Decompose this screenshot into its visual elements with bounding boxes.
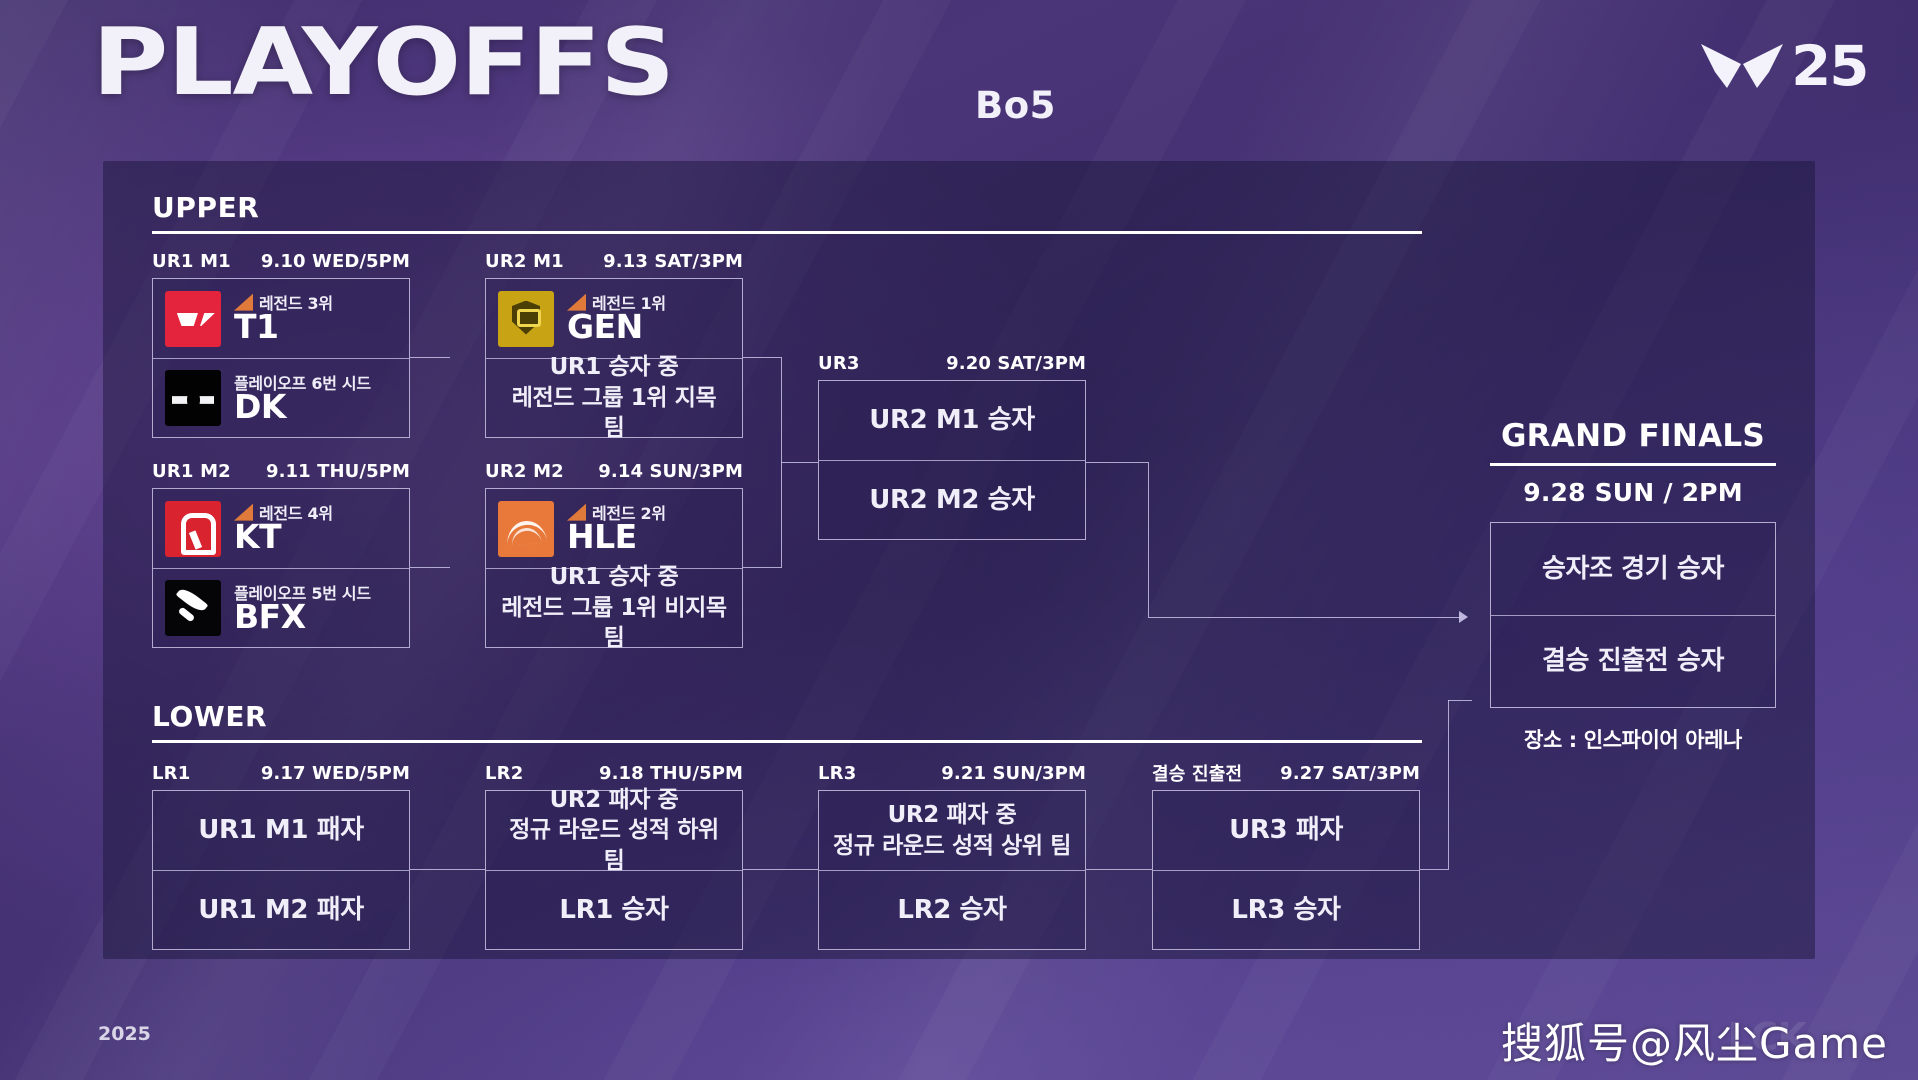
dk-logo-icon (165, 370, 221, 426)
team-info: 플레이오프 6번 시드 DK (234, 372, 371, 425)
placeholder-text: UR2 M2 승자 (831, 483, 1073, 517)
placeholder-slot[interactable]: LR2 승자 (819, 870, 1085, 949)
match-box: 레전드 3위 T1 플레이오프 6번 시드 DK (152, 278, 410, 438)
match-code: UR1 M1 (152, 251, 231, 272)
placeholder-text: UR2 패자 중정규 라운드 성적 상위 팀 (831, 800, 1073, 861)
match-code: UR2 M2 (485, 461, 564, 482)
placeholder-text: UR1 M2 패자 (165, 893, 397, 927)
section-title-upper: UPPER (152, 191, 259, 224)
team-slot[interactable]: 플레이오프 6번 시드 DK (153, 358, 409, 437)
placeholder-slot[interactable]: UR2 패자 중정규 라운드 성적 상위 팀 (819, 791, 1085, 870)
placeholder-slot[interactable]: UR2 M2 승자 (819, 460, 1085, 539)
match-code: UR1 M2 (152, 461, 231, 482)
connector-line (743, 357, 781, 358)
placeholder-text: UR2 패자 중정규 라운드 성적 하위 팀 (498, 785, 730, 876)
team-slot[interactable]: 레전드 2위 HLE (486, 489, 742, 568)
team-slot[interactable]: 레전드 3위 T1 (153, 279, 409, 358)
placeholder-text: UR1 승자 중레전드 그룹 1위 비지목 팀 (498, 562, 730, 653)
connector-line (743, 869, 818, 870)
connector-line (1086, 869, 1152, 870)
match-datetime: 9.18 THU/5PM (599, 763, 743, 784)
seed-flag-icon (567, 504, 586, 521)
team-info: 레전드 4위 KT (234, 502, 333, 555)
match-box: 레전드 1위 GEN UR1 승자 중레전드 그룹 1위 지목 팀 (485, 278, 743, 438)
match-header: UR2 M1 9.13 SAT/3PM (485, 248, 743, 274)
venue-label: 장소 : 인스파이어 아레나 (1490, 724, 1776, 754)
team-name: T1 (234, 310, 333, 345)
grand-finals-datetime: 9.28 SUN / 2PM (1490, 478, 1776, 507)
placeholder-slot[interactable]: 결승 진출전 승자 (1491, 615, 1775, 707)
team-name: KT (234, 520, 333, 555)
match-datetime: 9.21 SUN/3PM (941, 763, 1086, 784)
match-datetime: 9.10 WED/5PM (261, 251, 410, 272)
seed-row: 레전드 4위 (234, 502, 333, 522)
match-box: UR2 패자 중정규 라운드 성적 하위 팀 LR1 승자 (485, 790, 743, 950)
match-datetime: 9.27 SAT/3PM (1280, 763, 1420, 784)
lck-logo: 25 (1697, 34, 1866, 98)
match-box: UR2 패자 중정규 라운드 성적 상위 팀 LR2 승자 (818, 790, 1086, 950)
match-datetime: 9.13 SAT/3PM (603, 251, 743, 272)
connector-line (1148, 617, 1461, 618)
match-code: 결승 진출전 (1152, 760, 1242, 786)
placeholder-slot[interactable]: UR2 패자 중정규 라운드 성적 하위 팀 (486, 791, 742, 870)
placeholder-text: 결승 진출전 승자 (1503, 644, 1763, 678)
connector-line (1086, 462, 1148, 463)
match-datetime: 9.17 WED/5PM (261, 763, 410, 784)
match-header: 결승 진출전 9.27 SAT/3PM (1152, 760, 1420, 786)
placeholder-text: LR3 승자 (1165, 893, 1407, 927)
connector-line (1448, 700, 1472, 701)
match-header: LR1 9.17 WED/5PM (152, 760, 410, 786)
team-name: DK (234, 390, 371, 425)
bfx-logo-icon (165, 580, 221, 636)
placeholder-text: 승자조 경기 승자 (1503, 552, 1763, 586)
match-header: LR2 9.18 THU/5PM (485, 760, 743, 786)
footer-year: 2025 (98, 1023, 151, 1045)
connector-line (1148, 462, 1149, 617)
placeholder-slot[interactable]: UR1 승자 중레전드 그룹 1위 지목 팀 (486, 358, 742, 437)
placeholder-slot[interactable]: LR3 승자 (1153, 870, 1419, 949)
connector-line (410, 567, 450, 568)
placeholder-slot[interactable]: UR1 M2 패자 (153, 870, 409, 949)
seed-flag-icon (567, 294, 586, 311)
connector-arrow-icon (1459, 611, 1468, 623)
connector-line (1448, 700, 1449, 870)
team-info: 레전드 3위 T1 (234, 292, 333, 345)
logo-year: 25 (1792, 34, 1868, 98)
format-label: Bo5 (975, 84, 1056, 127)
connector-line (781, 462, 818, 463)
placeholder-slot[interactable]: UR3 패자 (1153, 791, 1419, 870)
match-datetime: 9.14 SUN/3PM (598, 461, 743, 482)
placeholder-slot[interactable]: 승자조 경기 승자 (1491, 523, 1775, 615)
seed-flag-icon (234, 294, 253, 311)
grand-finals: GRAND FINALS 9.28 SUN / 2PM 승자조 경기 승자 결승… (1490, 418, 1776, 754)
team-slot[interactable]: 레전드 1위 GEN (486, 279, 742, 358)
match-box: UR1 M1 패자 UR1 M2 패자 (152, 790, 410, 950)
match-box: UR2 M1 승자 UR2 M2 승자 (818, 380, 1086, 540)
section-title-lower: LOWER (152, 700, 267, 733)
grand-finals-title: GRAND FINALS (1490, 418, 1776, 454)
match-header: UR1 M1 9.10 WED/5PM (152, 248, 410, 274)
team-name: HLE (567, 520, 666, 555)
placeholder-slot[interactable]: LR1 승자 (486, 870, 742, 949)
team-name: BFX (234, 600, 371, 635)
placeholder-text: UR2 M1 승자 (831, 403, 1073, 437)
team-slot[interactable]: 플레이오프 5번 시드 BFX (153, 568, 409, 647)
t1-logo-icon (165, 291, 221, 347)
placeholder-slot[interactable]: UR1 M1 패자 (153, 791, 409, 870)
match-box: 레전드 4위 KT 플레이오프 5번 시드 BFX (152, 488, 410, 648)
placeholder-text: LR2 승자 (831, 893, 1073, 927)
team-name: GEN (567, 310, 666, 345)
grand-finals-box: 승자조 경기 승자 결승 진출전 승자 (1490, 522, 1776, 708)
connector-line (743, 567, 781, 568)
team-slot[interactable]: 레전드 4위 KT (153, 489, 409, 568)
placeholder-text: UR1 M1 패자 (165, 813, 397, 847)
seed-flag-icon (234, 504, 253, 521)
match-code: UR3 (818, 353, 860, 374)
match-header: LR3 9.21 SUN/3PM (818, 760, 1086, 786)
placeholder-text: UR3 패자 (1165, 813, 1407, 847)
section-rule-upper (152, 231, 1422, 234)
connector-line (410, 357, 450, 358)
match-code: LR3 (818, 763, 856, 784)
section-rule-lower (152, 740, 1422, 743)
gen-logo-icon (498, 291, 554, 347)
connector-line (1420, 869, 1448, 870)
match-header: UR3 9.20 SAT/3PM (818, 350, 1086, 376)
match-box: UR3 패자 LR3 승자 (1152, 790, 1420, 950)
seed-row: 레전드 3위 (234, 292, 333, 312)
connector-line (410, 869, 485, 870)
placeholder-text: UR1 승자 중레전드 그룹 1위 지목 팀 (498, 352, 730, 443)
placeholder-slot[interactable]: UR2 M1 승자 (819, 381, 1085, 460)
match-header: UR2 M2 9.14 SUN/3PM (485, 458, 743, 484)
placeholder-text: LR1 승자 (498, 893, 730, 927)
match-code: LR1 (152, 763, 190, 784)
match-header: UR1 M2 9.11 THU/5PM (152, 458, 410, 484)
team-info: 플레이오프 5번 시드 BFX (234, 582, 371, 635)
match-code: UR2 M1 (485, 251, 564, 272)
grand-finals-rule (1490, 463, 1776, 466)
hle-logo-icon (498, 501, 554, 557)
page-title: PLAYOFFS (92, 16, 674, 109)
team-info: 레전드 1위 GEN (567, 292, 666, 345)
page-header: PLAYOFFS Bo5 25 (0, 0, 1918, 130)
match-box: 레전드 2위 HLE UR1 승자 중레전드 그룹 1위 비지목 팀 (485, 488, 743, 648)
match-datetime: 9.11 THU/5PM (266, 461, 410, 482)
kt-logo-icon (165, 501, 221, 557)
team-info: 레전드 2위 HLE (567, 502, 666, 555)
placeholder-slot[interactable]: UR1 승자 중레전드 그룹 1위 비지목 팀 (486, 568, 742, 647)
source-watermark: 搜狐号@风尘Game (1501, 1010, 1888, 1071)
lck-chevron-icon (1697, 36, 1789, 97)
match-datetime: 9.20 SAT/3PM (946, 353, 1086, 374)
match-code: LR2 (485, 763, 523, 784)
